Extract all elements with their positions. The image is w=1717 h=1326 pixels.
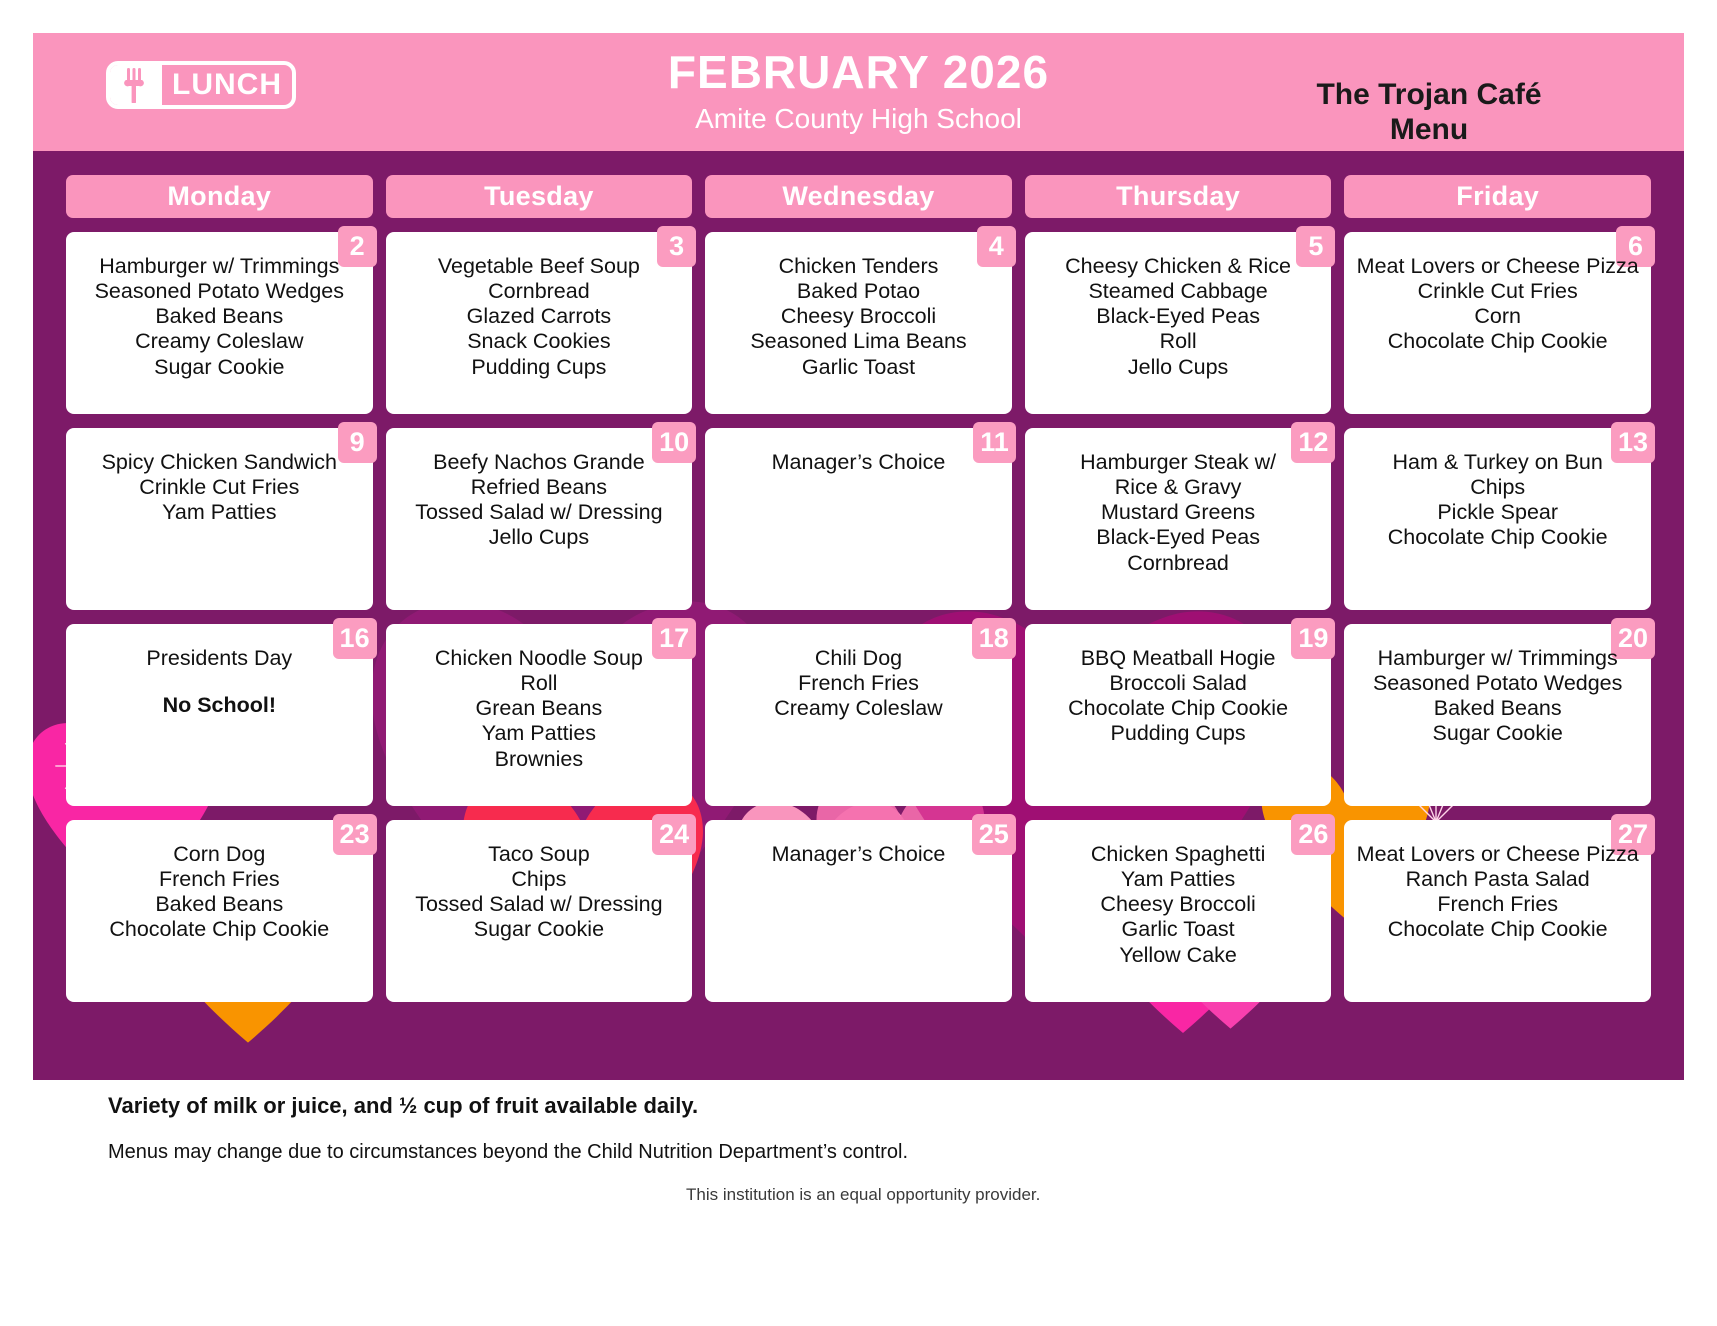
fork-icon — [110, 65, 162, 105]
footer-note-secondary: Menus may change due to circumstances be… — [108, 1141, 908, 1164]
menu-item: Baked Potao — [713, 279, 1004, 304]
menu-item-list: Cheesy Chicken & RiceSteamed CabbageBlac… — [1033, 254, 1324, 380]
calendar-day-cell[interactable]: 23Corn DogFrench FriesBaked BeansChocola… — [66, 820, 373, 1002]
menu-item: Jello Cups — [394, 525, 685, 550]
menu-item: Ham & Turkey on Bun — [1352, 450, 1643, 475]
menu-item: Crinkle Cut Fries — [74, 475, 365, 500]
menu-item: Broccoli Salad — [1033, 671, 1324, 696]
menu-item-list: Ham & Turkey on BunChipsPickle SpearChoc… — [1352, 450, 1643, 551]
calendar-day-cell[interactable]: 12Hamburger Steak w/Rice & GravyMustard … — [1025, 428, 1332, 610]
menu-item: Manager’s Choice — [713, 450, 1004, 475]
menu-item: Meat Lovers or Cheese Pizza — [1352, 842, 1643, 867]
calendar-day-cell[interactable]: 17Chicken Noodle SoupRollGrean BeansYam … — [386, 624, 693, 806]
lunch-logo-label: LUNCH — [162, 65, 292, 105]
menu-item: No School! — [74, 693, 365, 718]
calendar-day-cell[interactable]: 10Beefy Nachos GrandeRefried BeansTossed… — [386, 428, 693, 610]
menu-item: Baked Beans — [74, 892, 365, 917]
menu-item: Meat Lovers or Cheese Pizza — [1352, 254, 1643, 279]
lunch-menu-page: LUNCH FEBRUARY 2026 Amite County High Sc… — [0, 0, 1717, 1326]
calendar-week-row: 9Spicy Chicken SandwichCrinkle Cut Fries… — [66, 428, 1651, 610]
menu-item: Pudding Cups — [1033, 721, 1324, 746]
footer-note-provider: This institution is an equal opportunity… — [686, 1185, 1040, 1205]
menu-item-list: Chicken SpaghettiYam PattiesCheesy Brocc… — [1033, 842, 1324, 968]
menu-item: Chips — [394, 867, 685, 892]
menu-item: Sugar Cookie — [1352, 721, 1643, 746]
menu-item: Ranch Pasta Salad — [1352, 867, 1643, 892]
menu-item: Tossed Salad w/ Dressing — [394, 500, 685, 525]
menu-item: Chips — [1352, 475, 1643, 500]
menu-item-list: Chicken TendersBaked PotaoCheesy Broccol… — [713, 254, 1004, 380]
menu-item: Seasoned Potato Wedges — [1352, 671, 1643, 696]
menu-item: French Fries — [1352, 892, 1643, 917]
menu-item: Spicy Chicken Sandwich — [74, 450, 365, 475]
calendar-day-cell[interactable]: 16Presidents DayNo School! — [66, 624, 373, 806]
menu-item: Creamy Coleslaw — [713, 696, 1004, 721]
menu-item: Hamburger w/ Trimmings — [1352, 646, 1643, 671]
menu-item: Chocolate Chip Cookie — [1352, 917, 1643, 942]
calendar-day-cell[interactable]: 24Taco SoupChipsTossed Salad w/ Dressing… — [386, 820, 693, 1002]
calendar-body: MondayTuesdayWednesdayThursdayFriday 2Ha… — [33, 151, 1684, 1080]
calendar-dayname-wednesday: Wednesday — [705, 175, 1012, 218]
menu-item: Mustard Greens — [1033, 500, 1324, 525]
menu-item: Pudding Cups — [394, 355, 685, 380]
menu-item — [74, 671, 365, 693]
menu-item: Seasoned Potato Wedges — [74, 279, 365, 304]
menu-item: Jello Cups — [1033, 355, 1324, 380]
calendar-day-cell[interactable]: 5Cheesy Chicken & RiceSteamed CabbageBla… — [1025, 232, 1332, 414]
footer-note-primary: Variety of milk or juice, and ½ cup of f… — [108, 1093, 698, 1119]
calendar-weeks: 2Hamburger w/ TrimmingsSeasoned Potato W… — [66, 232, 1651, 1002]
menu-item: Corn — [1352, 304, 1643, 329]
calendar-day-cell[interactable]: 3Vegetable Beef SoupCornbreadGlazed Carr… — [386, 232, 693, 414]
menu-item-list: Taco SoupChipsTossed Salad w/ DressingSu… — [394, 842, 685, 943]
menu-item: Manager’s Choice — [713, 842, 1004, 867]
menu-item: Rice & Gravy — [1033, 475, 1324, 500]
menu-item: Yam Patties — [74, 500, 365, 525]
menu-item: Cheesy Broccoli — [713, 304, 1004, 329]
menu-item: Beefy Nachos Grande — [394, 450, 685, 475]
menu-item: Snack Cookies — [394, 329, 685, 354]
menu-item-list: Beefy Nachos GrandeRefried BeansTossed S… — [394, 450, 685, 551]
menu-item-list: Vegetable Beef SoupCornbreadGlazed Carro… — [394, 254, 685, 380]
menu-item-list: BBQ Meatball HogieBroccoli SaladChocolat… — [1033, 646, 1324, 747]
menu-item: Brownies — [394, 747, 685, 772]
calendar-week-row: 23Corn DogFrench FriesBaked BeansChocola… — [66, 820, 1651, 1002]
page-footer: Variety of milk or juice, and ½ cup of f… — [0, 1080, 1717, 1326]
cafe-title: The Trojan Café Menu — [1264, 77, 1594, 148]
calendar-header-row: MondayTuesdayWednesdayThursdayFriday — [66, 175, 1651, 218]
menu-item-list: Chicken Noodle SoupRollGrean BeansYam Pa… — [394, 646, 685, 772]
menu-item: Chocolate Chip Cookie — [1352, 525, 1643, 550]
page-header: LUNCH FEBRUARY 2026 Amite County High Sc… — [33, 33, 1684, 151]
lunch-logo-badge: LUNCH — [106, 61, 296, 109]
menu-item: Baked Beans — [74, 304, 365, 329]
menu-item: Yellow Cake — [1033, 943, 1324, 968]
calendar-day-cell[interactable]: 9Spicy Chicken SandwichCrinkle Cut Fries… — [66, 428, 373, 610]
calendar-week-row: 2Hamburger w/ TrimmingsSeasoned Potato W… — [66, 232, 1651, 414]
menu-item: Chicken Spaghetti — [1033, 842, 1324, 867]
menu-item-list: Presidents DayNo School! — [74, 646, 365, 718]
cafe-title-line1: The Trojan Café — [1264, 77, 1594, 112]
menu-item: French Fries — [74, 867, 365, 892]
cafe-title-line2: Menu — [1264, 112, 1594, 147]
menu-item-list: Hamburger w/ TrimmingsSeasoned Potato We… — [74, 254, 365, 380]
calendar-day-cell[interactable]: 20Hamburger w/ TrimmingsSeasoned Potato … — [1344, 624, 1651, 806]
calendar-day-cell[interactable]: 13Ham & Turkey on BunChipsPickle SpearCh… — [1344, 428, 1651, 610]
menu-item: Pickle Spear — [1352, 500, 1643, 525]
menu-item: Corn Dog — [74, 842, 365, 867]
calendar-dayname-monday: Monday — [66, 175, 373, 218]
menu-item: French Fries — [713, 671, 1004, 696]
calendar-dayname-tuesday: Tuesday — [386, 175, 693, 218]
menu-item-list: Chili DogFrench FriesCreamy Coleslaw — [713, 646, 1004, 721]
menu-item-list: Meat Lovers or Cheese PizzaRanch Pasta S… — [1352, 842, 1643, 943]
menu-item: Garlic Toast — [713, 355, 1004, 380]
calendar-day-cell[interactable]: 25Manager’s Choice — [705, 820, 1012, 1002]
menu-item: Chicken Tenders — [713, 254, 1004, 279]
menu-item-list: Spicy Chicken SandwichCrinkle Cut FriesY… — [74, 450, 365, 525]
menu-item: Seasoned Lima Beans — [713, 329, 1004, 354]
menu-item-list: Manager’s Choice — [713, 842, 1004, 867]
menu-item: Creamy Coleslaw — [74, 329, 365, 354]
menu-item: Crinkle Cut Fries — [1352, 279, 1643, 304]
menu-item: Tossed Salad w/ Dressing — [394, 892, 685, 917]
calendar-day-cell[interactable]: 19BBQ Meatball HogieBroccoli SaladChocol… — [1025, 624, 1332, 806]
calendar-day-cell[interactable]: 2Hamburger w/ TrimmingsSeasoned Potato W… — [66, 232, 373, 414]
menu-item: Cheesy Chicken & Rice — [1033, 254, 1324, 279]
calendar-grid: MondayTuesdayWednesdayThursdayFriday 2Ha… — [33, 151, 1684, 1080]
calendar-day-cell[interactable]: 11Manager’s Choice — [705, 428, 1012, 610]
calendar-day-cell[interactable]: 18Chili DogFrench FriesCreamy Coleslaw — [705, 624, 1012, 806]
menu-item-list: Hamburger Steak w/Rice & GravyMustard Gr… — [1033, 450, 1324, 576]
menu-item: Hamburger w/ Trimmings — [74, 254, 365, 279]
calendar-day-cell[interactable]: 27Meat Lovers or Cheese PizzaRanch Pasta… — [1344, 820, 1651, 1002]
menu-item: Refried Beans — [394, 475, 685, 500]
menu-item-list: Corn DogFrench FriesBaked BeansChocolate… — [74, 842, 365, 943]
menu-item: Chocolate Chip Cookie — [1352, 329, 1643, 354]
menu-item: Chicken Noodle Soup — [394, 646, 685, 671]
menu-item: Chili Dog — [713, 646, 1004, 671]
menu-item: Black-Eyed Peas — [1033, 304, 1324, 329]
menu-item-list: Meat Lovers or Cheese PizzaCrinkle Cut F… — [1352, 254, 1643, 355]
menu-item: BBQ Meatball Hogie — [1033, 646, 1324, 671]
menu-item: Baked Beans — [1352, 696, 1643, 721]
menu-item: Cornbread — [1033, 551, 1324, 576]
menu-item: Vegetable Beef Soup — [394, 254, 685, 279]
menu-item: Steamed Cabbage — [1033, 279, 1324, 304]
menu-item: Sugar Cookie — [74, 355, 365, 380]
calendar-dayname-thursday: Thursday — [1025, 175, 1332, 218]
menu-item-list: Manager’s Choice — [713, 450, 1004, 475]
menu-item: Taco Soup — [394, 842, 685, 867]
menu-item: Cornbread — [394, 279, 685, 304]
menu-item: Roll — [394, 671, 685, 696]
menu-item: Hamburger Steak w/ — [1033, 450, 1324, 475]
menu-item: Sugar Cookie — [394, 917, 685, 942]
menu-item: Roll — [1033, 329, 1324, 354]
menu-item-list: Hamburger w/ TrimmingsSeasoned Potato We… — [1352, 646, 1643, 747]
menu-item: Yam Patties — [394, 721, 685, 746]
menu-item: Chocolate Chip Cookie — [1033, 696, 1324, 721]
menu-item: Yam Patties — [1033, 867, 1324, 892]
menu-item: Grean Beans — [394, 696, 685, 721]
calendar-day-cell[interactable]: 6Meat Lovers or Cheese PizzaCrinkle Cut … — [1344, 232, 1651, 414]
calendar-day-cell[interactable]: 26Chicken SpaghettiYam PattiesCheesy Bro… — [1025, 820, 1332, 1002]
calendar-week-row: 16Presidents DayNo School!17Chicken Nood… — [66, 624, 1651, 806]
menu-item: Presidents Day — [74, 646, 365, 671]
calendar-dayname-friday: Friday — [1344, 175, 1651, 218]
calendar-day-cell[interactable]: 4Chicken TendersBaked PotaoCheesy Brocco… — [705, 232, 1012, 414]
menu-item: Garlic Toast — [1033, 917, 1324, 942]
menu-item: Chocolate Chip Cookie — [74, 917, 365, 942]
menu-item: Glazed Carrots — [394, 304, 685, 329]
menu-item: Black-Eyed Peas — [1033, 525, 1324, 550]
menu-item: Cheesy Broccoli — [1033, 892, 1324, 917]
